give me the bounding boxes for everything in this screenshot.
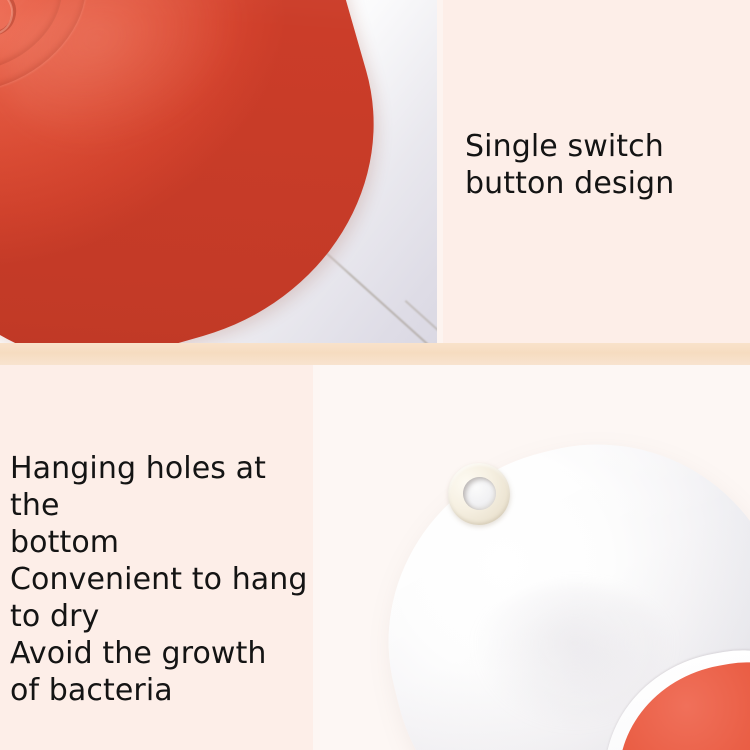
switch-button-photo: [0, 0, 437, 343]
switch-caption-text: Single switch button design: [465, 128, 735, 202]
horizontal-divider-band: [0, 343, 750, 365]
bottom-row: Hanging holes at the bottom Convenient t…: [0, 365, 750, 750]
cap-specular-highlight: [0, 0, 271, 172]
product-feature-collage: Single switch button design Hanging hole…: [0, 0, 750, 750]
bottom-vertical-divider: [313, 365, 320, 750]
power-button-icon: [0, 0, 41, 63]
hanging-hole-caption-text: Hanging holes at the bottom Convenient t…: [10, 450, 315, 709]
top-row: Single switch button design: [0, 0, 750, 343]
button-recess-outer-ring: [0, 0, 116, 124]
hanging-hole-caption-panel: Hanging holes at the bottom Convenient t…: [0, 365, 313, 750]
switch-caption-panel: Single switch button design: [443, 0, 750, 343]
hanging-hole-photo: [320, 365, 750, 750]
button-recess-inner-ring: [0, 0, 85, 96]
